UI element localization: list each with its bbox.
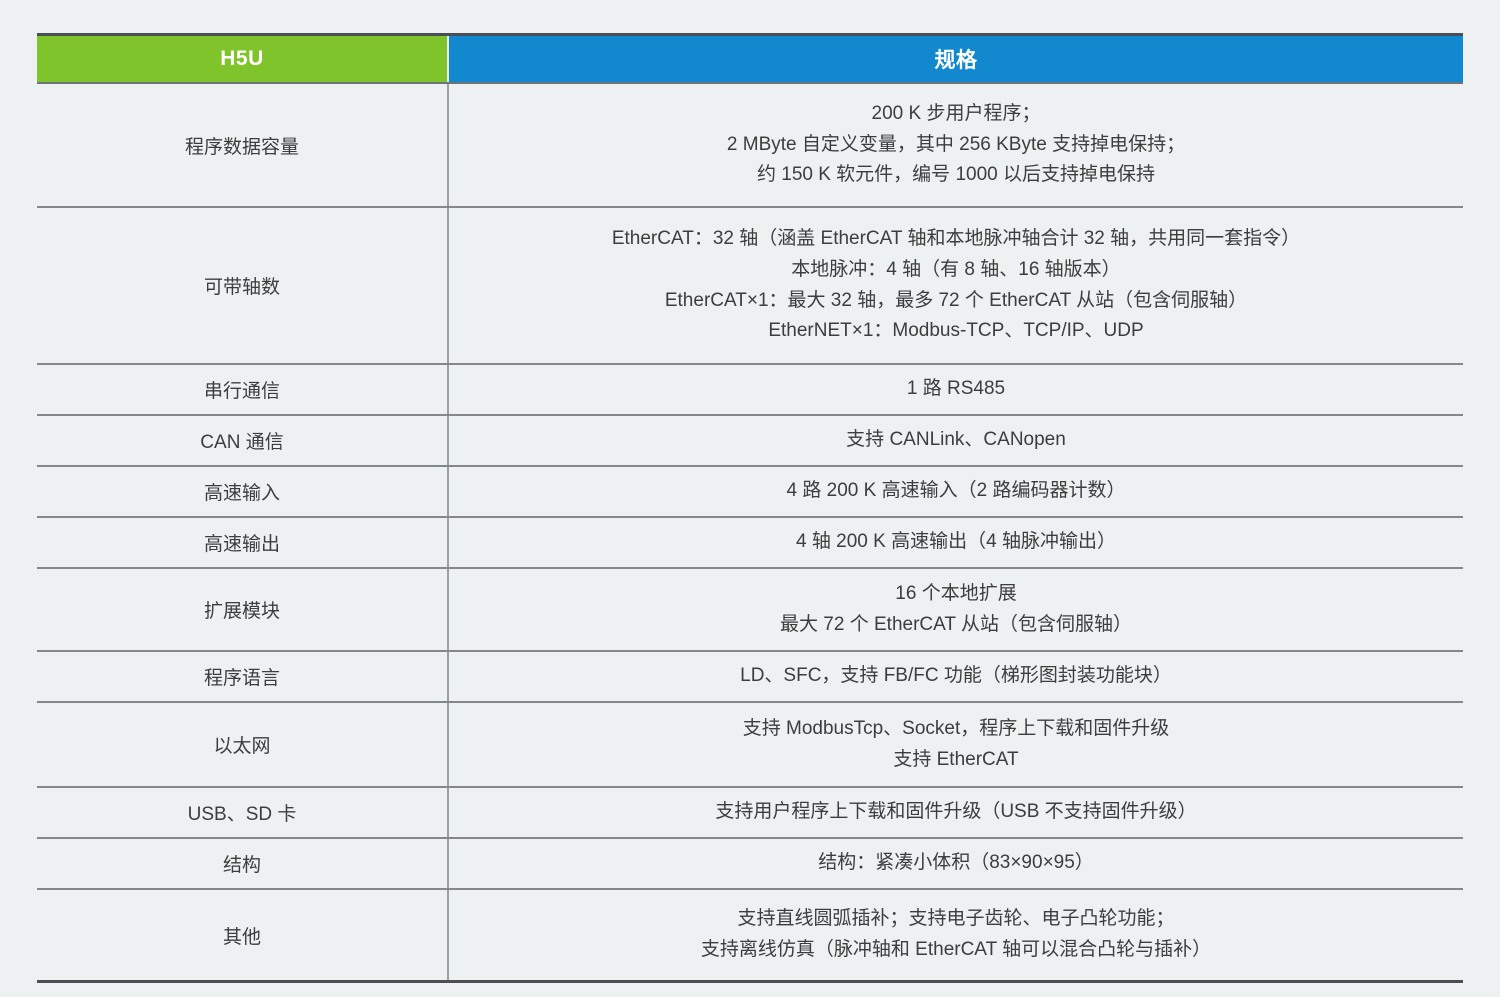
table-row: USB、SD 卡 支持用户程序上下载和固件升级（USB 不支持固件升级） bbox=[37, 787, 1463, 838]
table-row: 程序数据容量 200 K 步用户程序； 2 MByte 自定义变量，其中 256… bbox=[37, 83, 1463, 207]
row-label: 高速输入 bbox=[37, 466, 448, 517]
value-line: 最大 72 个 EtherCAT 从站（包含伺服轴） bbox=[463, 610, 1449, 641]
table-row: 结构 结构：紧凑小体积（83×90×95） bbox=[37, 838, 1463, 889]
table-header: H5U 规格 bbox=[37, 35, 1463, 84]
value-line: 16 个本地扩展 bbox=[463, 579, 1449, 610]
value-line: 2 MByte 自定义变量，其中 256 KByte 支持掉电保持； bbox=[463, 130, 1449, 161]
row-value: 结构：紧凑小体积（83×90×95） bbox=[448, 838, 1463, 889]
value-line: 结构：紧凑小体积（83×90×95） bbox=[463, 848, 1449, 879]
row-value: 16 个本地扩展 最大 72 个 EtherCAT 从站（包含伺服轴） bbox=[448, 568, 1463, 651]
value-line: 支持 ModbusTcp、Socket，程序上下载和固件升级 bbox=[463, 714, 1449, 745]
value-line: 4 路 200 K 高速输入（2 路编码器计数） bbox=[463, 476, 1449, 507]
value-line: 本地脉冲：4 轴（有 8 轴、16 轴版本） bbox=[463, 255, 1449, 286]
value-line: 4 轴 200 K 高速输出（4 轴脉冲输出） bbox=[463, 527, 1449, 558]
value-line: 200 K 步用户程序； bbox=[463, 99, 1449, 130]
row-label: 其他 bbox=[37, 889, 448, 982]
specification-table: H5U 规格 程序数据容量 200 K 步用户程序； 2 MByte 自定义变量… bbox=[37, 33, 1463, 983]
table-row: 以太网 支持 ModbusTcp、Socket，程序上下载和固件升级 支持 Et… bbox=[37, 702, 1463, 787]
value-line: 支持离线仿真（脉冲轴和 EtherCAT 轴可以混合凸轮与插补） bbox=[463, 935, 1449, 966]
row-label: 扩展模块 bbox=[37, 568, 448, 651]
table-row: 串行通信 1 路 RS485 bbox=[37, 364, 1463, 415]
value-line: EtherCAT：32 轴（涵盖 EtherCAT 轴和本地脉冲轴合计 32 轴… bbox=[463, 224, 1449, 255]
header-cell-spec: 规格 bbox=[448, 35, 1463, 84]
header-cell-model: H5U bbox=[37, 35, 448, 84]
value-line: 支持 CANLink、CANopen bbox=[463, 425, 1449, 456]
row-label: 以太网 bbox=[37, 702, 448, 787]
row-value: 1 路 RS485 bbox=[448, 364, 1463, 415]
row-label: 高速输出 bbox=[37, 517, 448, 568]
header-row: H5U 规格 bbox=[37, 35, 1463, 84]
value-line: 约 150 K 软元件，编号 1000 以后支持掉电保持 bbox=[463, 160, 1449, 191]
value-line: 1 路 RS485 bbox=[463, 374, 1449, 405]
table-row: 扩展模块 16 个本地扩展 最大 72 个 EtherCAT 从站（包含伺服轴） bbox=[37, 568, 1463, 651]
row-label: 结构 bbox=[37, 838, 448, 889]
row-label: CAN 通信 bbox=[37, 415, 448, 466]
row-value: 200 K 步用户程序； 2 MByte 自定义变量，其中 256 KByte … bbox=[448, 83, 1463, 207]
row-label: 可带轴数 bbox=[37, 207, 448, 364]
table-row: 高速输出 4 轴 200 K 高速输出（4 轴脉冲输出） bbox=[37, 517, 1463, 568]
row-value: 支持用户程序上下载和固件升级（USB 不支持固件升级） bbox=[448, 787, 1463, 838]
table-row: 其他 支持直线圆弧插补；支持电子齿轮、电子凸轮功能； 支持离线仿真（脉冲轴和 E… bbox=[37, 889, 1463, 982]
value-line: 支持 EtherCAT bbox=[463, 745, 1449, 776]
row-label: 程序数据容量 bbox=[37, 83, 448, 207]
row-value: EtherCAT：32 轴（涵盖 EtherCAT 轴和本地脉冲轴合计 32 轴… bbox=[448, 207, 1463, 364]
row-value: 支持 CANLink、CANopen bbox=[448, 415, 1463, 466]
value-line: 支持用户程序上下载和固件升级（USB 不支持固件升级） bbox=[463, 797, 1449, 828]
value-line: EtherCAT×1：最大 32 轴，最多 72 个 EtherCAT 从站（包… bbox=[463, 286, 1449, 317]
table-body: 程序数据容量 200 K 步用户程序； 2 MByte 自定义变量，其中 256… bbox=[37, 83, 1463, 982]
row-value: LD、SFC，支持 FB/FC 功能（梯形图封装功能块） bbox=[448, 651, 1463, 702]
value-line: 支持直线圆弧插补；支持电子齿轮、电子凸轮功能； bbox=[463, 904, 1449, 935]
row-value: 支持直线圆弧插补；支持电子齿轮、电子凸轮功能； 支持离线仿真（脉冲轴和 Ethe… bbox=[448, 889, 1463, 982]
value-line: LD、SFC，支持 FB/FC 功能（梯形图封装功能块） bbox=[463, 661, 1449, 692]
table-row: 程序语言 LD、SFC，支持 FB/FC 功能（梯形图封装功能块） bbox=[37, 651, 1463, 702]
table-row: 高速输入 4 路 200 K 高速输入（2 路编码器计数） bbox=[37, 466, 1463, 517]
row-label: USB、SD 卡 bbox=[37, 787, 448, 838]
page-root: H5U 规格 程序数据容量 200 K 步用户程序； 2 MByte 自定义变量… bbox=[0, 0, 1500, 997]
row-value: 支持 ModbusTcp、Socket，程序上下载和固件升级 支持 EtherC… bbox=[448, 702, 1463, 787]
row-label: 程序语言 bbox=[37, 651, 448, 702]
value-line: EtherNET×1：Modbus-TCP、TCP/IP、UDP bbox=[463, 316, 1449, 347]
row-label: 串行通信 bbox=[37, 364, 448, 415]
table-row: 可带轴数 EtherCAT：32 轴（涵盖 EtherCAT 轴和本地脉冲轴合计… bbox=[37, 207, 1463, 364]
row-value: 4 轴 200 K 高速输出（4 轴脉冲输出） bbox=[448, 517, 1463, 568]
table-row: CAN 通信 支持 CANLink、CANopen bbox=[37, 415, 1463, 466]
row-value: 4 路 200 K 高速输入（2 路编码器计数） bbox=[448, 466, 1463, 517]
